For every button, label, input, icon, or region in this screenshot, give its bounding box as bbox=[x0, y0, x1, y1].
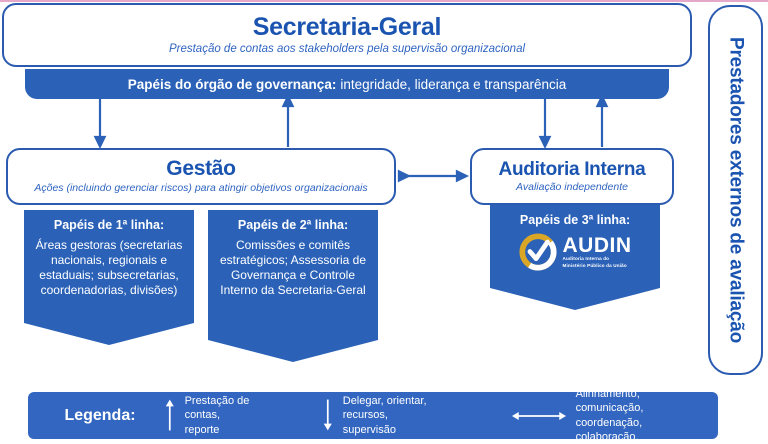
secretaria-geral-box: Secretaria-Geral Prestação de contas aos… bbox=[2, 3, 692, 67]
legend-line-1: Prestação de contas, bbox=[185, 394, 285, 423]
legend-item-accountability-text: Prestação de contas, reporte bbox=[185, 394, 285, 437]
legend-line-1: Alinhamento, comunicação, bbox=[576, 387, 706, 416]
secretaria-geral-title: Secretaria-Geral bbox=[253, 14, 441, 40]
first-line-roles-header: Papéis de 1ª linha: bbox=[24, 218, 194, 232]
legend-line-2: reporte bbox=[185, 423, 285, 437]
second-line-roles-body: Comissões e comitês estratégicos; Assess… bbox=[208, 238, 378, 298]
external-assurance-providers-label: Prestadores externos de avaliação bbox=[725, 37, 747, 343]
legend-item-delegation-text: Delegar, orientar, recursos, supervisão bbox=[343, 394, 441, 437]
auditoria-interna-title: Auditoria Interna bbox=[499, 160, 646, 180]
external-assurance-providers-panel: Prestadores externos de avaliação bbox=[708, 5, 763, 375]
down-arrow-icon bbox=[322, 398, 334, 432]
third-line-roles-banner: Papéis de 3ª linha: AUDIN Auditoria Inte… bbox=[490, 205, 660, 310]
audin-logo: AUDIN Auditoria Interna do Ministério Pú… bbox=[490, 233, 660, 271]
second-line-roles-banner: Papéis de 2ª linha: Comissões e comitês … bbox=[208, 210, 378, 362]
legend-item-accountability: Prestação de contas, reporte bbox=[164, 394, 284, 437]
auditoria-interna-box: Auditoria Interna Avaliação independente bbox=[470, 148, 674, 205]
auditoria-interna-subtitle: Avaliação independente bbox=[516, 181, 628, 193]
gestao-box: Gestão Ações (incluindo gerenciar riscos… bbox=[6, 148, 396, 205]
audin-word: AUDIN bbox=[563, 235, 632, 256]
first-line-roles-banner: Papéis de 1ª linha: Áreas gestoras (secr… bbox=[24, 210, 194, 345]
audin-checkmark-icon bbox=[519, 233, 557, 271]
governance-roles-label: Papéis do órgão de governança: bbox=[128, 77, 337, 92]
secretaria-geral-subtitle: Prestação de contas aos stakeholders pel… bbox=[169, 43, 525, 56]
legend-line-1: Delegar, orientar, bbox=[343, 394, 441, 408]
governance-roles-value: integridade, liderança e transparência bbox=[340, 77, 566, 92]
third-line-roles-header: Papéis de 3ª linha: bbox=[490, 213, 660, 227]
audin-tagline-2: Ministério Público da União bbox=[563, 263, 627, 269]
diagram-canvas: Secretaria-Geral Prestação de contas aos… bbox=[0, 0, 768, 443]
gestao-title: Gestão bbox=[166, 158, 235, 180]
up-arrow-icon bbox=[164, 398, 176, 432]
legend-title: Legenda: bbox=[40, 407, 160, 425]
gestao-subtitle: Ações (incluindo gerenciar riscos) para … bbox=[34, 182, 367, 194]
legend-line-2: coordenação, colaboração. bbox=[576, 416, 706, 444]
legend-box: Legenda: Prestação de contas, reporte De… bbox=[28, 392, 718, 439]
legend-line-2: recursos, supervisão bbox=[343, 408, 441, 437]
second-line-roles-header: Papéis de 2ª linha: bbox=[208, 218, 378, 232]
legend-item-alignment-text: Alinhamento, comunicação, coordenação, c… bbox=[576, 387, 706, 444]
legend-item-delegation: Delegar, orientar, recursos, supervisão bbox=[322, 394, 440, 437]
governance-roles-bar: Papéis do órgão de governança: integrida… bbox=[25, 69, 669, 99]
audin-wordmark: AUDIN Auditoria Interna do Ministério Pú… bbox=[563, 235, 632, 268]
legend-item-alignment: Alinhamento, comunicação, coordenação, c… bbox=[511, 387, 706, 444]
bidirectional-arrow-icon bbox=[511, 409, 567, 423]
first-line-roles-body: Áreas gestoras (secretarias nacionais, r… bbox=[24, 238, 194, 298]
